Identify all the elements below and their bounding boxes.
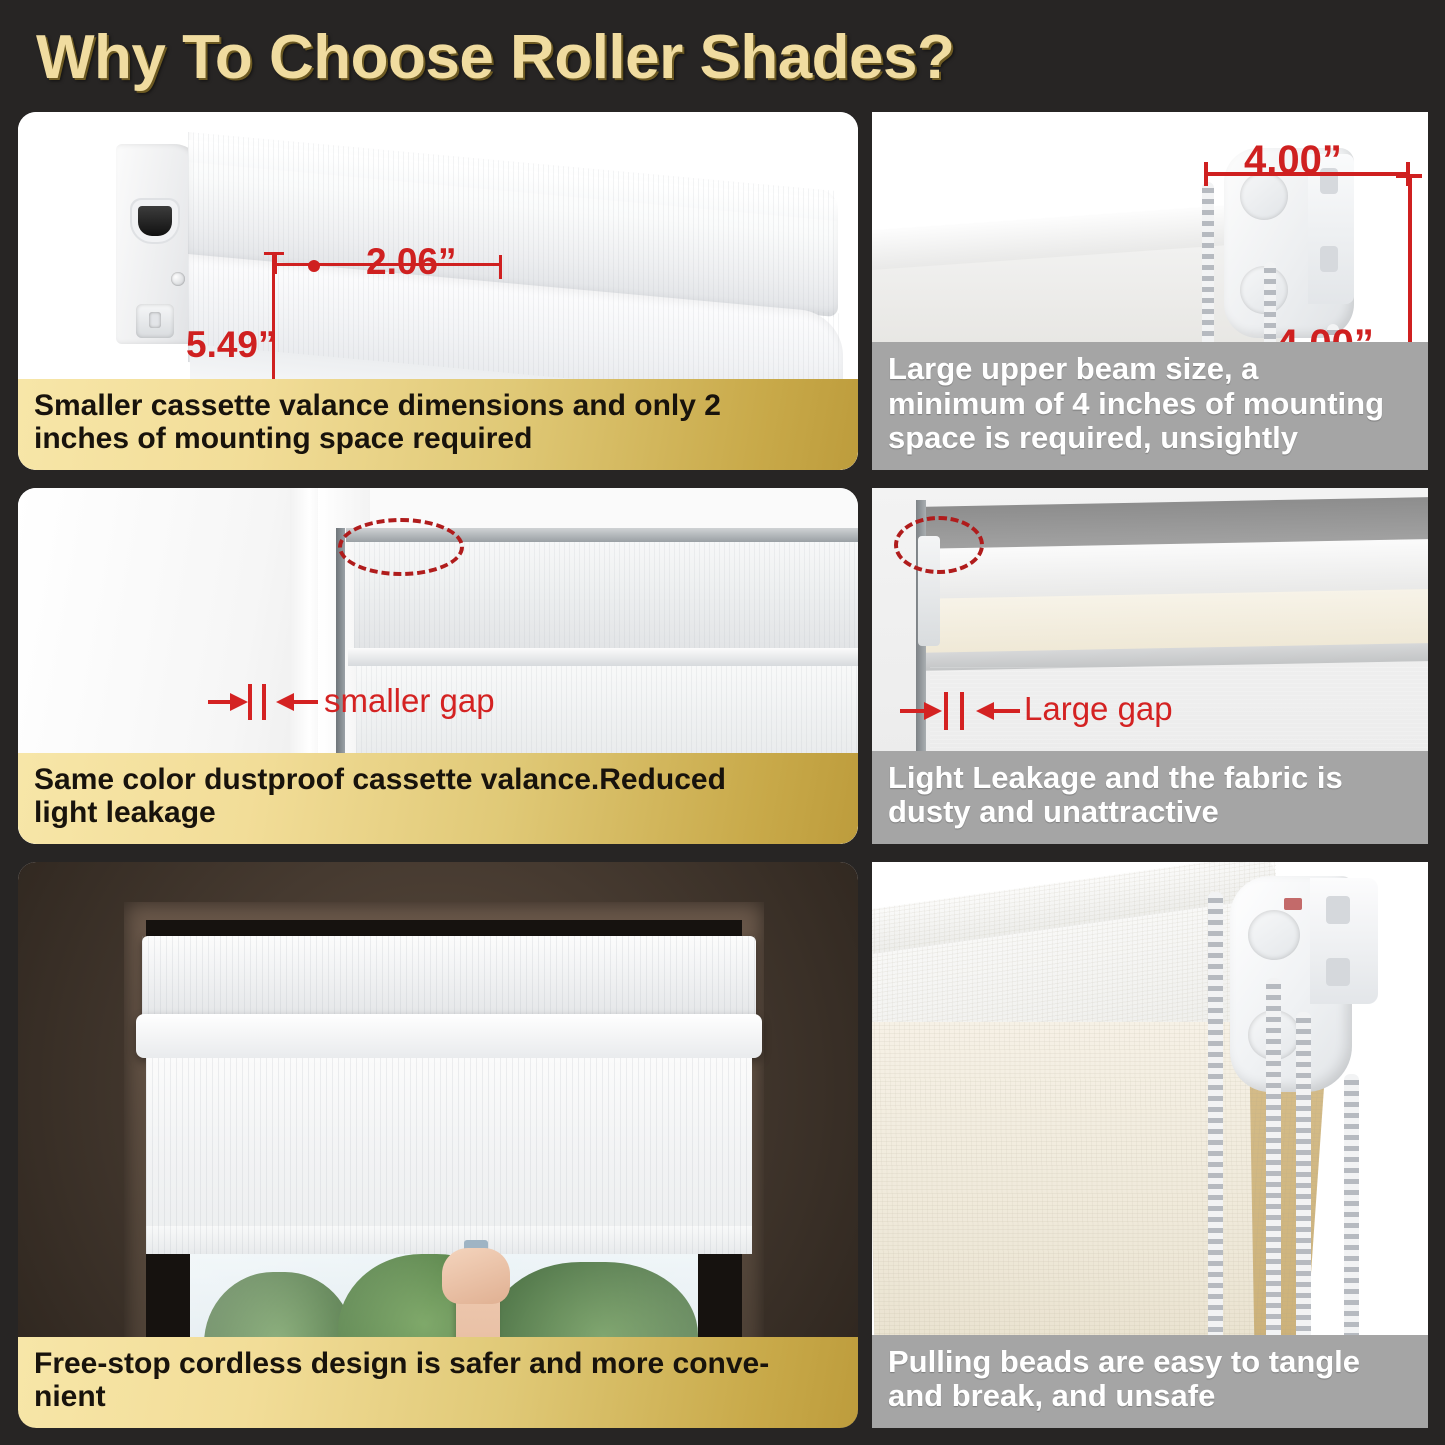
panel-good-cordless-window: Free-stop cordless design is safer and m…	[18, 862, 858, 1428]
caption-good-row-3: Free-stop cordless design is safer and m…	[18, 1337, 858, 1428]
width-dimension-label: 4.00”	[1244, 138, 1342, 183]
middle-rail	[348, 648, 858, 666]
fabric-texture	[146, 1226, 752, 1254]
panel-bad-bead-chain: Pulling beads are easy to tangle and bre…	[872, 862, 1428, 1428]
hand-icon	[442, 1248, 510, 1304]
gap-label: smaller gap	[324, 682, 495, 720]
bracket-indicator	[1284, 898, 1302, 910]
gap-tick	[248, 684, 252, 720]
gap-arrow-right-icon	[924, 702, 942, 720]
height-dimension-label: 5.49”	[186, 324, 277, 366]
gap-arrow-stem-right	[992, 709, 1020, 713]
caption-good-row-1: Smaller cassette valance dimensions and …	[18, 379, 858, 470]
gap-arrow-right-icon	[230, 693, 248, 711]
fabric-texture	[146, 1058, 752, 1254]
width-dimension-cap-left	[274, 255, 277, 274]
infographic-page: Why To Choose Roller Shades? 5.49”	[0, 0, 1445, 1445]
mount-lock	[136, 304, 174, 338]
width-dimension-label: 2.06”	[366, 241, 457, 283]
valance-lip	[136, 1014, 762, 1058]
width-dimension-cap-right	[499, 255, 502, 279]
page-title: Why To Choose Roller Shades?	[36, 22, 954, 93]
caption-bad-row-3: Pulling beads are easy to tangle and bre…	[872, 1335, 1428, 1428]
gap-tick	[960, 692, 964, 730]
bead-chain	[1208, 892, 1223, 1392]
dimension-origin-dot	[308, 260, 320, 272]
caption-bad-row-1: Large upper beam size, a minimum of 4 in…	[872, 342, 1428, 470]
panel-bad-large-gap: Large gap Light Leakage and the fabric i…	[872, 488, 1428, 844]
roller-shade-fabric	[146, 1058, 752, 1254]
highlight-ellipse	[894, 516, 984, 574]
panel-good-smaller-gap: smaller gap Same color dustproof cassett…	[18, 488, 858, 844]
screw-icon	[171, 272, 185, 286]
title-bar: Why To Choose Roller Shades?	[0, 0, 1445, 108]
cassette-valance	[142, 936, 756, 1022]
fabric-texture	[142, 936, 756, 1022]
bead-chain	[1266, 978, 1281, 1392]
panel-bad-large-beam: 4.00” 4.00” Large upper beam size, a min…	[872, 112, 1428, 470]
bracket-wall-plate	[1310, 878, 1378, 1004]
bracket-eyelet	[1248, 910, 1300, 960]
gap-label: Large gap	[1024, 690, 1173, 728]
caption-good-row-2: Same color dustproof cassette valance.Re…	[18, 753, 858, 844]
width-dimension-cap-left	[1204, 162, 1208, 186]
highlight-ellipse	[338, 518, 464, 576]
hem-bar	[146, 1226, 752, 1254]
gap-tick	[944, 692, 948, 730]
height-dimension-cap-top	[1396, 174, 1422, 178]
gap-arrow-stem-right	[292, 700, 318, 704]
cord-slot	[138, 206, 172, 236]
caption-bad-row-2: Light Leakage and the fabric is dusty an…	[872, 751, 1428, 844]
gap-tick	[262, 684, 266, 720]
panel-good-cassette-dimensions: 5.49” 2.06” Smaller cassette valance dim…	[18, 112, 858, 470]
